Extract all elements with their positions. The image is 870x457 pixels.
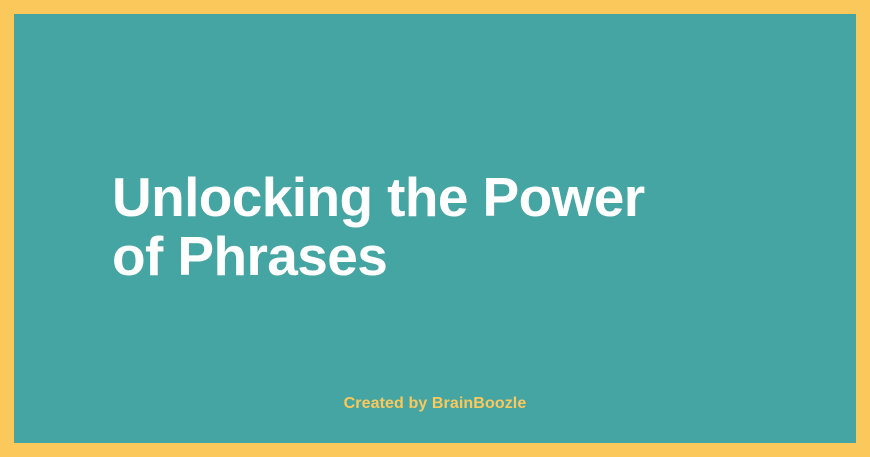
- slide-footer: Created by BrainBoozle: [14, 394, 856, 414]
- slide-title: Unlocking the Power of Phrases: [112, 168, 796, 286]
- slide-panel: Unlocking the Power of Phrases Created b…: [14, 14, 856, 443]
- footer-credit-text: Created by BrainBoozle: [344, 394, 527, 414]
- title-slide: Unlocking the Power of Phrases Created b…: [0, 0, 870, 457]
- title-block: Unlocking the Power of Phrases: [112, 168, 796, 286]
